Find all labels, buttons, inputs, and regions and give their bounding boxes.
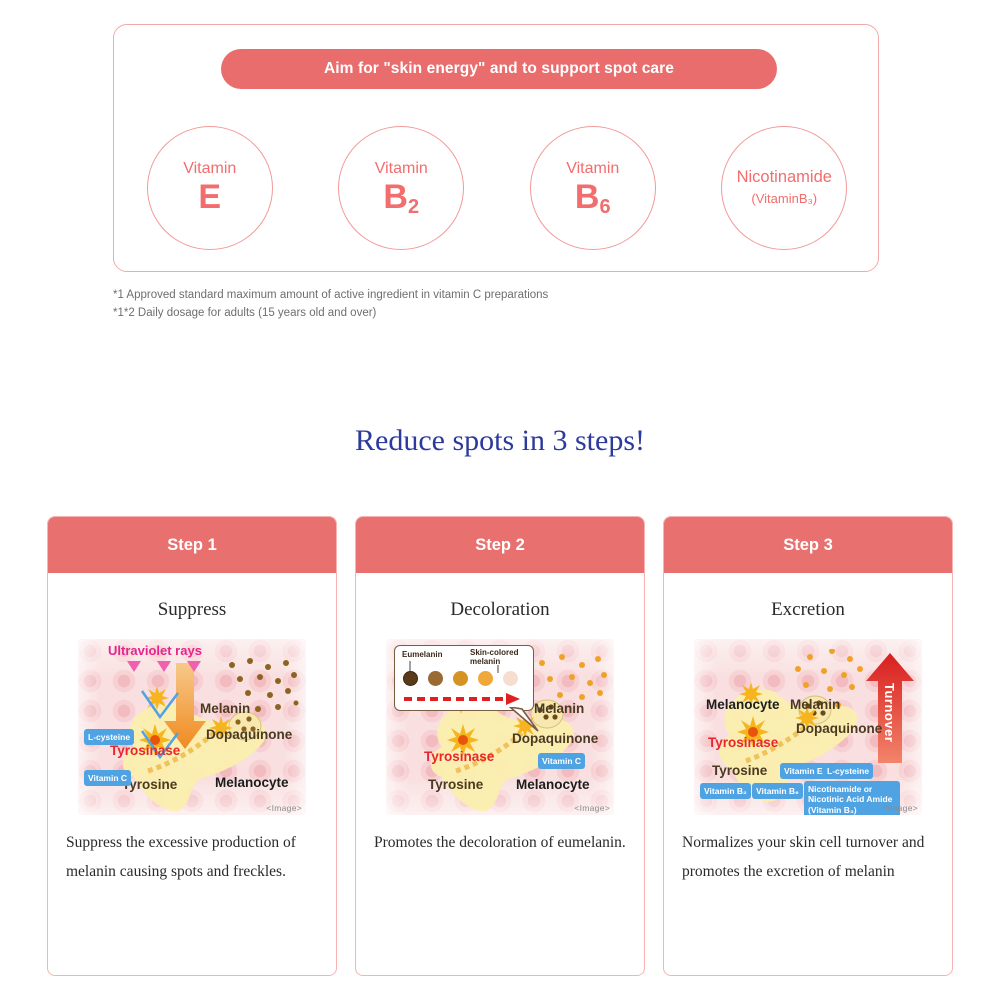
step-2-header: Step 2 bbox=[356, 517, 644, 573]
vitamin-panel: Aim for "skin energy" and to support spo… bbox=[113, 24, 879, 272]
melanin-ball-5 bbox=[503, 671, 518, 686]
step-3-label-melanin: Melanin bbox=[790, 697, 840, 712]
step-2-label-tyrosine: Tyrosine bbox=[428, 777, 483, 792]
step-2-label-tyrosinase: Tyrosinase bbox=[424, 749, 494, 764]
section-heading: Reduce spots in 3 steps! bbox=[0, 424, 1000, 458]
footnote-line-2: *1*2 Daily dosage for adults (15 years o… bbox=[113, 305, 548, 323]
vitamin-circle-b2-big: B2 bbox=[383, 180, 419, 216]
step-2-description: Promotes the decoloration of eumelanin. bbox=[374, 815, 626, 858]
step-2-image-caption: <Image> bbox=[574, 803, 610, 813]
step-card-1: Step 1 Suppress Ultraviolet rays bbox=[47, 516, 337, 976]
step-3-badge-vitamin-b2: Vitamin B₂ bbox=[700, 783, 751, 799]
step-1-label-dopaquinone: Dopaquinone bbox=[206, 727, 292, 742]
step-2-badge-vitamin-c: Vitamin C bbox=[538, 753, 585, 769]
step-2-label-dopaquinone: Dopaquinone bbox=[512, 731, 598, 746]
melanin-ball-4 bbox=[478, 671, 493, 686]
vitamin-letter: E bbox=[198, 178, 221, 216]
step-3-description: Normalizes your skin cell turnover and p… bbox=[682, 815, 934, 886]
footnote-line-1: *1 Approved standard maximum amount of a… bbox=[113, 287, 548, 305]
vitamin-letter: B bbox=[575, 178, 600, 216]
step-1-title: Suppress bbox=[48, 599, 336, 621]
melanin-ball-2 bbox=[428, 671, 443, 686]
vitamin-circle-b6-top: Vitamin bbox=[566, 159, 619, 179]
step-1-image-caption: <Image> bbox=[266, 803, 302, 813]
vitamin-circle-nicotinamide: Nicotinamide (VitaminB₃) bbox=[721, 126, 847, 250]
melanin-ball-3 bbox=[453, 671, 468, 686]
vitamin-circle-e: Vitamin E bbox=[147, 126, 273, 250]
uv-arrow-icon-1 bbox=[127, 661, 141, 672]
step-3-header: Step 3 bbox=[664, 517, 952, 573]
vitamin-circle-b2: Vitamin B2 bbox=[338, 126, 464, 250]
step-3-title: Excretion bbox=[664, 599, 952, 621]
vitamin-circle-b2-top: Vitamin bbox=[375, 159, 428, 179]
vitamin-subscript: 6 bbox=[599, 196, 610, 218]
step-3-label-melanocyte: Melanocyte bbox=[706, 697, 780, 712]
step-1-diagram: Ultraviolet rays bbox=[78, 639, 306, 815]
step-1-label-tyrosinase: Tyrosinase bbox=[110, 743, 180, 758]
step-3-label-dopaquinone: Dopaquinone bbox=[796, 721, 882, 736]
step-2-label-melanocyte: Melanocyte bbox=[516, 777, 590, 792]
footnotes: *1 Approved standard maximum amount of a… bbox=[113, 287, 548, 323]
step-3-label-tyrosinase: Tyrosinase bbox=[708, 735, 778, 750]
vitamin-circle-b6: Vitamin B6 bbox=[530, 126, 656, 250]
step-2-label-melanin: Melanin bbox=[534, 701, 584, 716]
vitamin-circle-e-big: E bbox=[198, 180, 221, 216]
melanin-ball-1 bbox=[403, 671, 418, 686]
step-1-description: Suppress the excessive production of mel… bbox=[66, 815, 318, 886]
nicotinamide-name: Nicotinamide bbox=[737, 167, 832, 188]
step-3-diagram: Turnover Melanocyte Melanin Dopaquinone … bbox=[694, 639, 922, 815]
page-root: Aim for "skin energy" and to support spo… bbox=[0, 0, 1000, 1000]
step-2-diagram: Eumelanin Skin-colored melanin Melanin D… bbox=[386, 639, 614, 815]
step-3-image-caption: <Image> bbox=[882, 803, 918, 813]
step-1-badge-vitamin-c: Vitamin C bbox=[84, 770, 131, 786]
step-3-badge-vitamin-b6: Vitamin B₆ bbox=[752, 783, 803, 799]
vitamin-letter: B bbox=[383, 178, 408, 216]
step-3-label-turnover: Turnover bbox=[882, 683, 897, 742]
step-1-label-ultraviolet: Ultraviolet rays bbox=[108, 643, 202, 658]
vitamin-circle-e-top: Vitamin bbox=[183, 159, 236, 179]
uv-arrow-icon-2 bbox=[157, 661, 171, 672]
decoloration-arrow-icon bbox=[402, 693, 524, 705]
vitamin-circle-b6-big: B6 bbox=[575, 180, 611, 216]
step-2-title: Decoloration bbox=[356, 599, 644, 621]
step-card-2: Step 2 Decoloration bbox=[355, 516, 645, 976]
step-card-3: Step 3 Excretion bbox=[663, 516, 953, 976]
step-card-row: Step 1 Suppress Ultraviolet rays bbox=[47, 516, 953, 976]
vitamin-subscript: 2 bbox=[408, 196, 419, 218]
vitamin-circle-row: Vitamin E Vitamin B2 Vitamin B6 Nicotina… bbox=[114, 115, 880, 260]
uv-arrow-icon-3 bbox=[187, 661, 201, 672]
step-3-badge-l-cysteine: L-cysteine bbox=[823, 763, 873, 779]
step-1-header: Step 1 bbox=[48, 517, 336, 573]
step-3-label-tyrosine: Tyrosine bbox=[712, 763, 767, 778]
nicotinamide-sub: (VitaminB₃) bbox=[751, 191, 817, 208]
aim-banner: Aim for "skin energy" and to support spo… bbox=[221, 49, 777, 89]
step-1-badge-l-cysteine: L-cysteine bbox=[84, 729, 134, 745]
step-1-label-melanocyte: Melanocyte bbox=[215, 775, 289, 790]
step-1-label-melanin: Melanin bbox=[200, 701, 250, 716]
step-3-badge-vitamin-e: Vitamin E bbox=[780, 763, 827, 779]
